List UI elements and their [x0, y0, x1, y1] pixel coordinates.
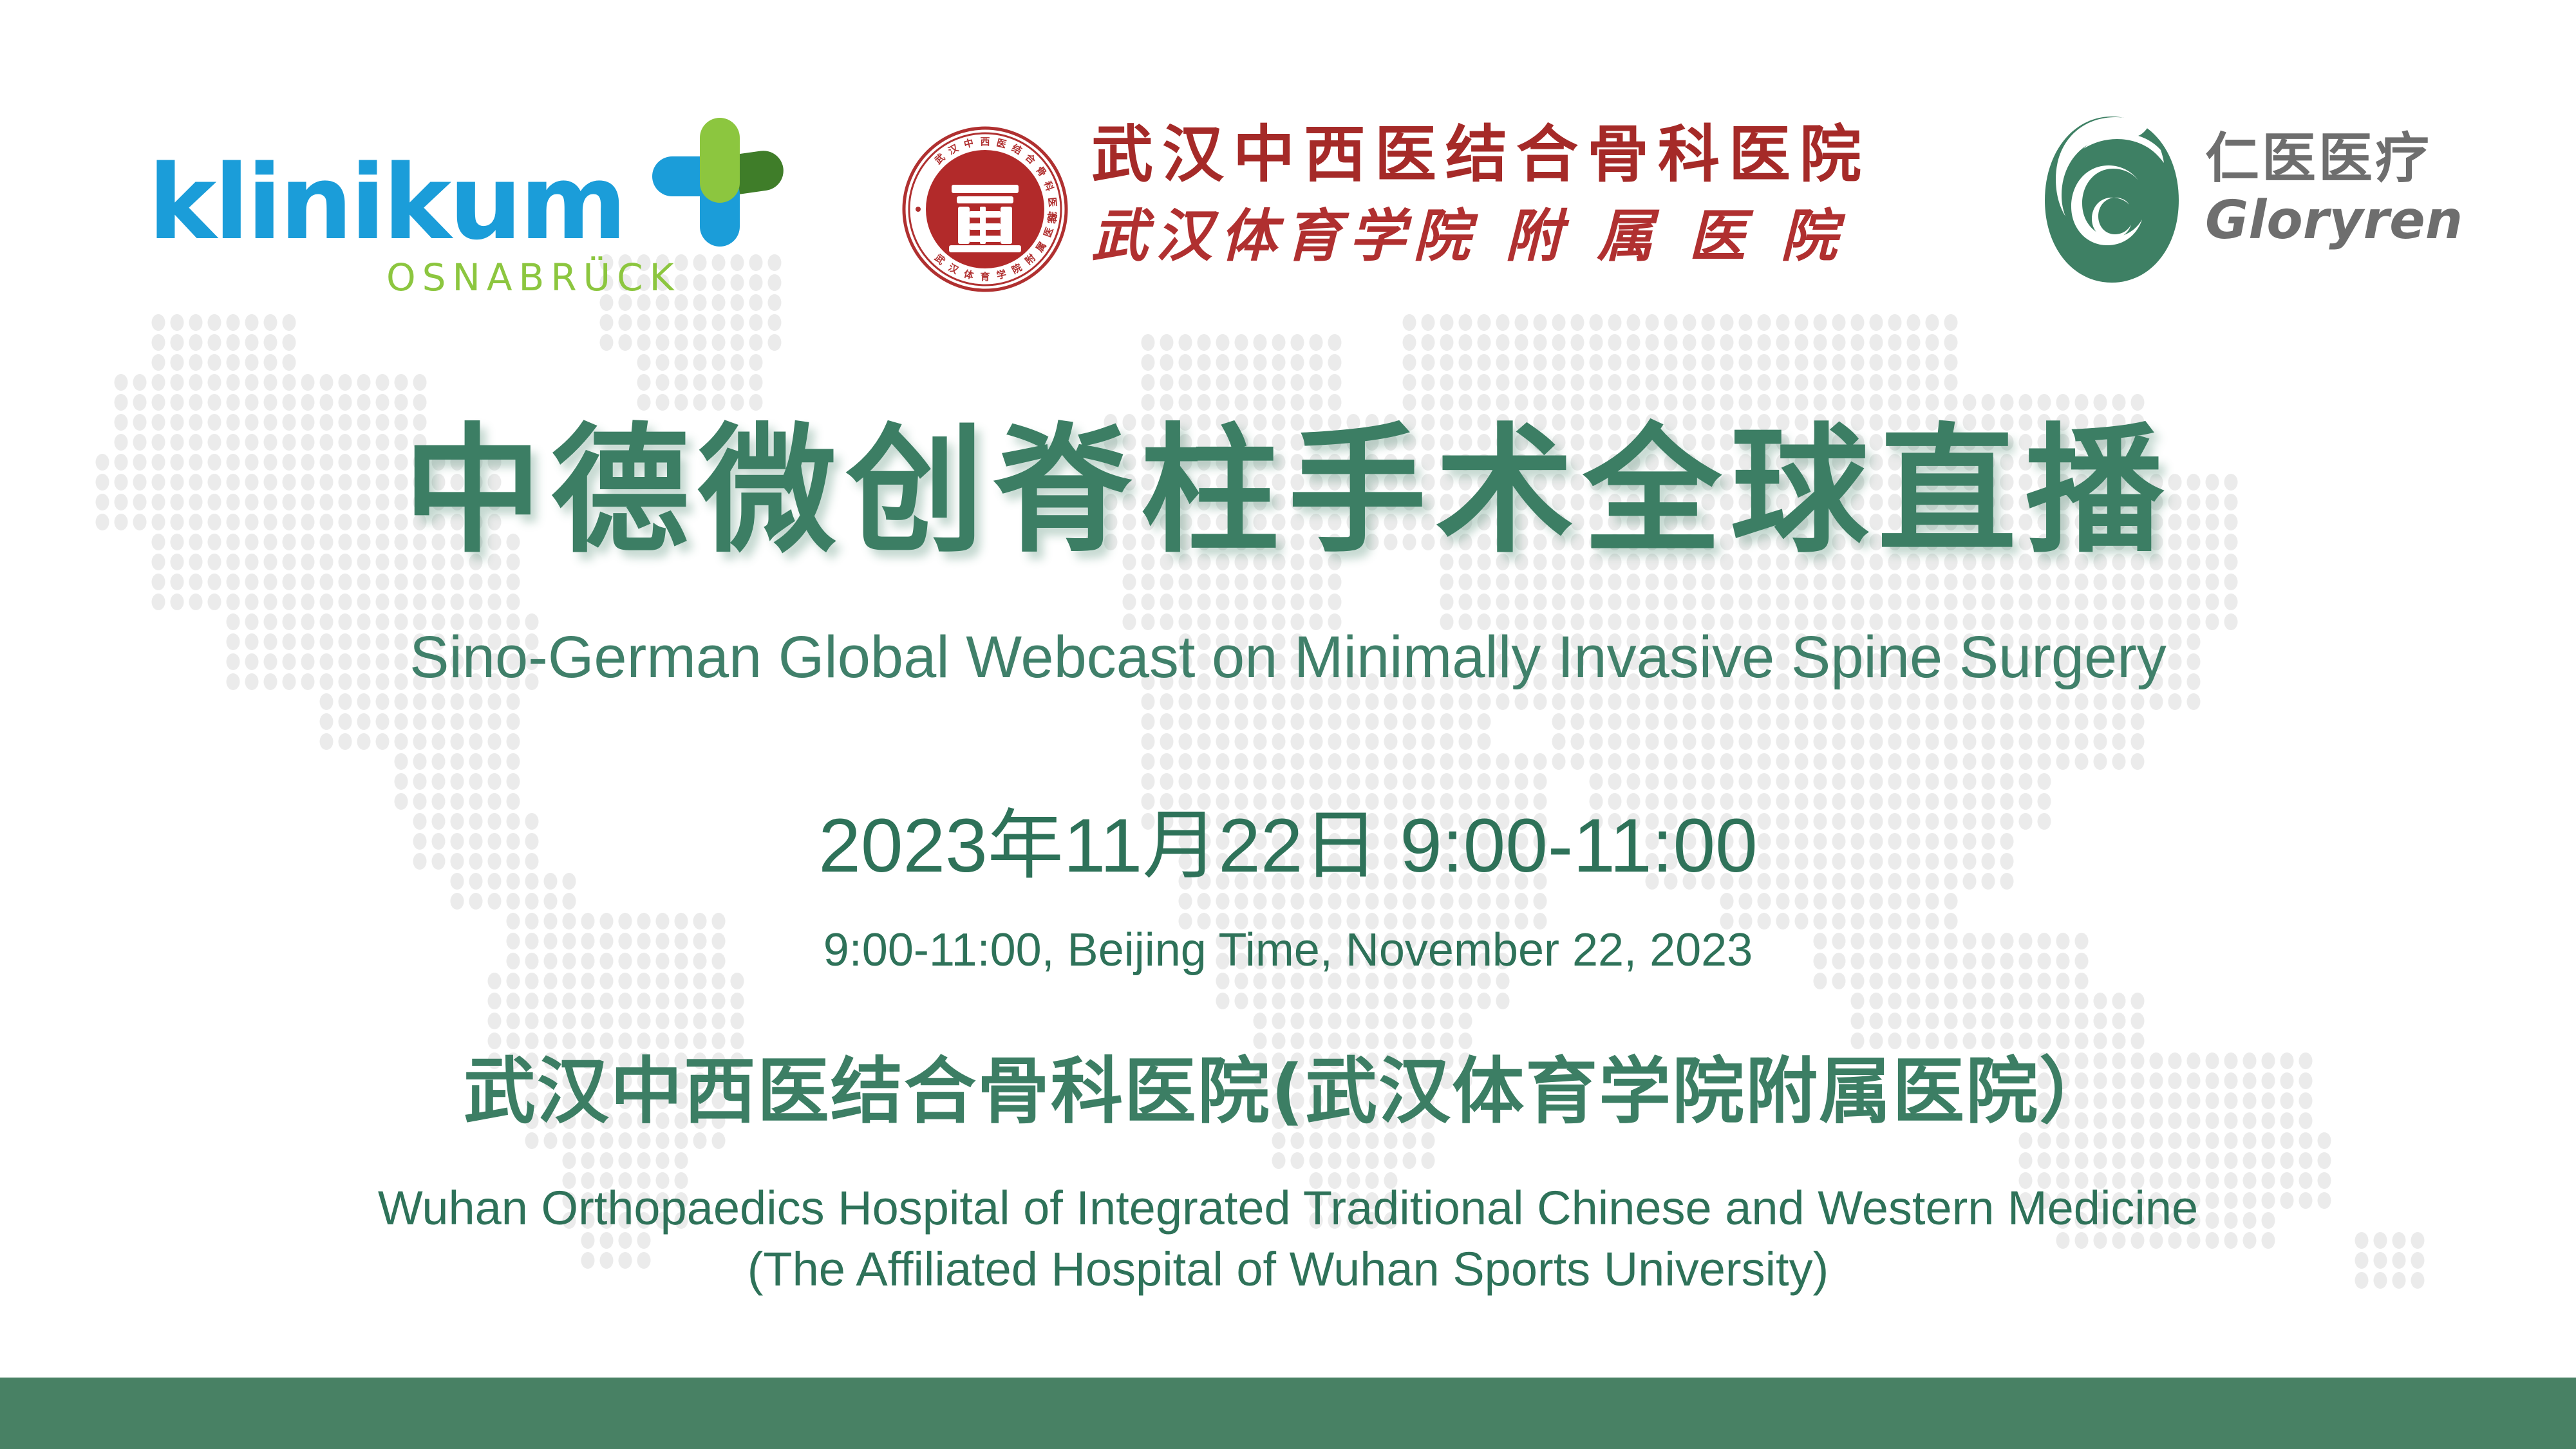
svg-text:结: 结	[1010, 142, 1024, 157]
plus-petal-top	[700, 118, 740, 203]
webcast-announcement-poster: klinikum OSNABRÜCK	[0, 0, 2576, 1449]
svg-text:汉: 汉	[946, 142, 961, 156]
gloryren-swirl-icon	[2035, 113, 2189, 286]
subtitle-en: Sino-German Global Webcast on Minimally …	[0, 628, 2576, 687]
svg-text:院: 院	[1046, 211, 1058, 222]
wuhan-hospital-name-cn: 武汉中西医结合骨科医院	[1091, 119, 1928, 190]
logo-row: klinikum OSNABRÜCK	[0, 0, 2576, 322]
klinikum-wordmark: klinikum	[148, 151, 625, 254]
svg-text:汉: 汉	[946, 261, 961, 276]
venue-hospital-en-line2: (The Affiliated Hospital of Wuhan Sports…	[0, 1246, 2576, 1293]
gloryren-wordmark-en: Gloryren	[2205, 192, 2463, 250]
wuhan-hospital-name-block: 武汉中西医结合骨科医院 武汉体育学院 附 属 医 院	[1091, 119, 1928, 273]
svg-text:学: 学	[995, 268, 1008, 281]
svg-text:体: 体	[963, 268, 975, 281]
osnabrueck-wordmark: OSNABRÜCK	[386, 256, 681, 299]
svg-text:中: 中	[963, 137, 975, 151]
svg-text:医: 医	[1042, 226, 1056, 239]
svg-text:属: 属	[1033, 239, 1048, 254]
svg-text:医: 医	[995, 137, 1008, 151]
svg-text:医: 医	[1046, 197, 1058, 208]
svg-text:院: 院	[1010, 261, 1024, 276]
event-date-en: 9:00-11:00, Beijing Time, November 22, 2…	[0, 927, 2576, 973]
wuhan-affiliated-name-cn: 武汉体育学院 附 属 医 院	[1091, 199, 1928, 272]
klinikum-plus-icon	[647, 113, 785, 251]
svg-text:西: 西	[980, 136, 990, 147]
bottom-accent-bar	[0, 1378, 2576, 1449]
main-title-cn: 中德微创脊柱手术全球直播	[0, 422, 2576, 560]
svg-text:育: 育	[980, 271, 990, 283]
venue-hospital-cn: 武汉中西医结合骨科医院(武汉体育学院附属医院）	[0, 1056, 2576, 1128]
venue-hospital-en-line1: Wuhan Orthopaedics Hospital of Integrate…	[0, 1184, 2576, 1232]
klinikum-osnabrueck-logo: klinikum OSNABRÜCK	[148, 113, 779, 306]
gloryren-wordmark-cn: 仁医医疗	[2205, 129, 2463, 188]
gloryren-wordmark-block: 仁医医疗 Gloryren	[2205, 129, 2463, 250]
svg-text:科: 科	[1042, 180, 1056, 192]
wuhan-hospital-logo: 武 汉 中 西 医 结 合 骨 科 医 院 武 汉 体 育	[901, 119, 1932, 306]
svg-text:骨: 骨	[1033, 164, 1048, 179]
wuhan-hospital-seal-icon: 武 汉 中 西 医 结 合 骨 科 医 院 武 汉 体 育	[901, 126, 1069, 293]
event-date-cn: 2023年11月22日 9:00-11:00	[0, 808, 2576, 884]
gloryren-logo: 仁医医疗 Gloryren	[2035, 113, 2550, 299]
